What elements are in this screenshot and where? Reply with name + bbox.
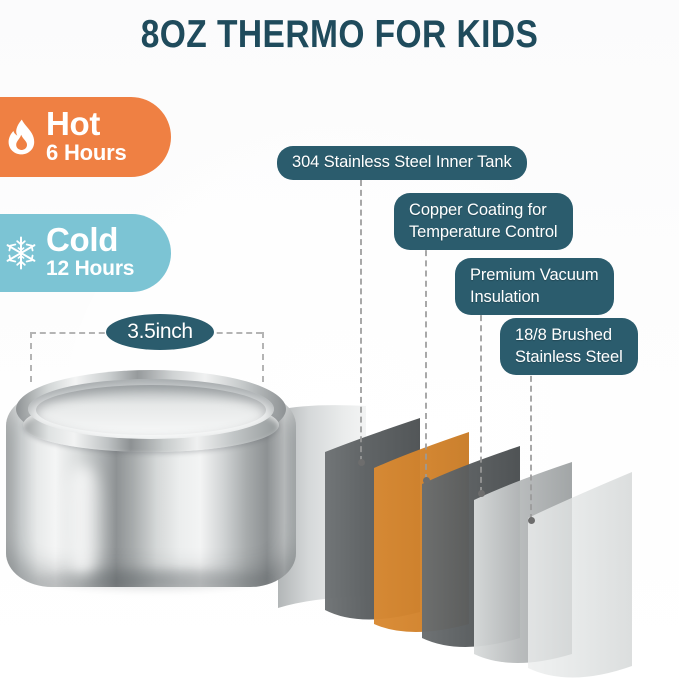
layer-3-copper (374, 432, 469, 632)
leader-line-copper-coating (425, 240, 427, 480)
jar-shadow (30, 568, 276, 594)
callout-brushed-steel: 18/8 Brushed Stainless Steel (500, 318, 638, 375)
layer-5-light-steel (474, 462, 572, 663)
leader-dot-copper-coating (423, 477, 430, 484)
layer-2-dark-steel (325, 418, 420, 620)
leader-dot-vacuum-insulation (478, 490, 485, 497)
jar-highlight (60, 466, 106, 576)
badge-hot-duration: 6 Hours (46, 140, 127, 165)
leader-line-vacuum-insulation (480, 305, 482, 493)
callout-vacuum-insulation: Premium Vacuum Insulation (455, 258, 614, 315)
thermos-jar-image (6, 370, 296, 595)
badge-hot-title: Hot (46, 107, 127, 140)
jar-mouth-opening (36, 385, 266, 435)
page-title: 8OZ THERMO FOR KIDS (48, 13, 632, 57)
callout-vacuum-insulation-line2: Insulation (470, 286, 599, 308)
product-infographic: 8OZ THERMO FOR KIDS Hot 6 Hours (0, 0, 679, 679)
measure-tick-left (30, 332, 32, 382)
measure-tick-right (262, 332, 264, 382)
callout-copper-coating-line1: Copper Coating for (409, 199, 558, 221)
leader-line-brushed-steel (530, 366, 532, 520)
callout-vacuum-insulation-line1: Premium Vacuum (470, 264, 599, 286)
layer-6-translucent-shell (528, 472, 632, 678)
badge-cold-title: Cold (46, 223, 134, 256)
callout-brushed-steel-line2: Stainless Steel (515, 346, 623, 368)
material-layers (270, 400, 679, 679)
callout-brushed-steel-line1: 18/8 Brushed (515, 324, 623, 346)
badge-hot: Hot 6 Hours (0, 97, 171, 177)
measurement-badge: 3.5inch (106, 314, 214, 350)
snowflake-icon (4, 233, 38, 273)
leader-dot-brushed-steel (528, 517, 535, 524)
callout-copper-coating: Copper Coating for Temperature Control (394, 193, 573, 250)
callout-copper-coating-line2: Temperature Control (409, 221, 558, 243)
layer-4-dark-steel-inner (422, 446, 520, 647)
badge-cold: Cold 12 Hours (0, 214, 171, 292)
badge-cold-duration: 12 Hours (46, 256, 134, 281)
leader-line-inner-tank (360, 180, 362, 462)
leader-dot-inner-tank (358, 459, 365, 466)
flame-icon (4, 117, 38, 157)
callout-inner-tank: 304 Stainless Steel Inner Tank (277, 146, 527, 180)
